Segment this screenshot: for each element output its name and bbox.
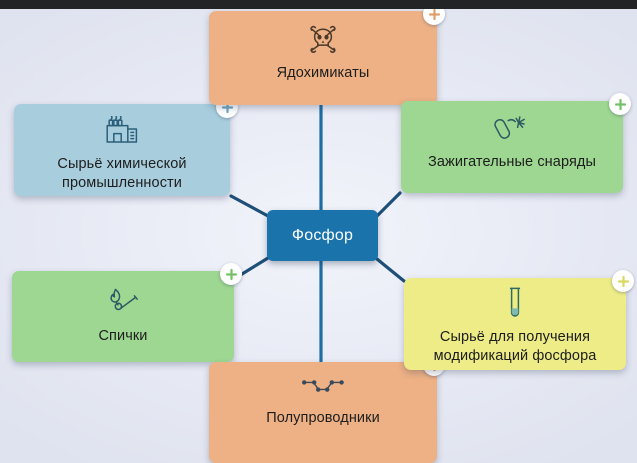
node-card-label: Зажигательные снаряды <box>418 153 606 172</box>
window-top-bar <box>0 0 637 9</box>
node-card-modifications[interactable]: Сырьё для получения модификаций фосфора <box>404 278 626 370</box>
node-card-semiconductors[interactable]: Полупроводники <box>209 362 437 463</box>
connector-incendiary <box>377 193 400 216</box>
plus-badge-incendiary[interactable] <box>609 93 631 115</box>
burning-match-icon <box>105 287 141 315</box>
node-card-label: Сырьё химической промышленности <box>14 155 230 193</box>
dynamite-icon <box>494 113 530 143</box>
plus-badge-matches[interactable] <box>220 263 242 285</box>
test-tube-icon <box>504 286 526 320</box>
circuit-nodes-icon <box>301 376 345 396</box>
skull-crossbones-icon <box>306 24 340 54</box>
node-card-matches[interactable]: Спички <box>12 271 234 362</box>
plus-badge-modifications[interactable] <box>612 270 634 292</box>
node-card-raw-chem[interactable]: Сырьё химической промышленности <box>14 104 230 196</box>
node-card-label: Спички <box>88 327 157 346</box>
node-card-incendiary[interactable]: Зажигательные снаряды <box>401 101 623 193</box>
node-card-label: Сырьё для получения модификаций фосфора <box>404 328 626 366</box>
connector-modifications <box>377 259 404 281</box>
diagram-canvas: Фосфор Сырьё химической промышленности <box>0 0 637 463</box>
node-card-label: Полупроводники <box>256 409 390 428</box>
center-node-phosphorus[interactable]: Фосфор <box>267 210 378 261</box>
node-card-label: Ядохимикаты <box>267 64 380 83</box>
factory-icon <box>105 116 139 146</box>
connector-raw-chem <box>231 196 268 216</box>
center-node-label: Фосфор <box>292 227 353 245</box>
node-card-pesticides[interactable]: Ядохимикаты <box>209 11 437 105</box>
